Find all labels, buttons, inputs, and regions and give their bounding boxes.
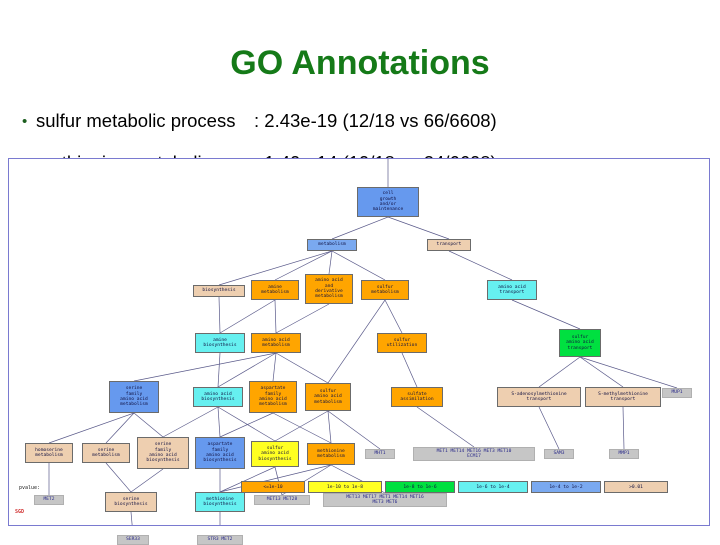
- slide-root: GO Annotations •sulfur metabolic process…: [0, 0, 720, 540]
- go-node-cell[interactable]: cell growth and/or maintenance: [357, 187, 419, 217]
- bullet-label-0: sulfur metabolic process: [36, 110, 235, 132]
- go-edge-aamet-to-sulfaamet: [276, 353, 328, 383]
- go-edge-samtransp-to-g_sam3: [539, 407, 559, 449]
- go-edge-serfammet-to-serfambio: [134, 413, 163, 437]
- go-node-sulfaamet[interactable]: sulfur amino acid metabolism: [305, 383, 351, 411]
- go-node-aspfammet[interactable]: aspartate family amino acid metabolism: [249, 381, 297, 413]
- go-edge-sulfaatr-to-smmtransp: [580, 357, 623, 387]
- go-edge-sulfaatr-to-g_mup1: [580, 357, 677, 388]
- go-node-aadermet[interactable]: amino acid and derivative metabolism: [305, 274, 353, 304]
- go-node-g_ser33[interactable]: SER33: [117, 535, 149, 545]
- pvalue-legend-chip-5: >0.01: [604, 481, 668, 493]
- bullet-value-0: : 2.43e-19 (12/18 vs 66/6608): [254, 110, 497, 132]
- go-edge-aabio-to-aspfambio: [218, 407, 220, 437]
- pvalue-legend-chip-2: 1e-8 to 1e-6: [385, 481, 455, 493]
- go-edge-serfammet-to-homoser: [49, 413, 134, 443]
- go-edge-sulfaatr-to-samtransp: [539, 357, 580, 387]
- go-node-sulfassim[interactable]: sulfate assimilation: [391, 387, 443, 407]
- go-node-sermet[interactable]: serine metabolism: [82, 443, 130, 463]
- go-edge-aadermet-to-aamet: [276, 304, 329, 333]
- go-edge-sulfassim-to-g_met1: [417, 407, 474, 447]
- go-edge-sulfaamet-to-sulfaabio: [275, 411, 328, 441]
- go-node-transp[interactable]: transport: [427, 239, 471, 251]
- go-edge-aspfammet-to-methmet: [273, 413, 331, 443]
- go-node-aspfambio[interactable]: aspartate family amino acid biosynthesis: [195, 437, 245, 469]
- go-node-serfammet[interactable]: serine family amino acid metabolism: [109, 381, 159, 413]
- go-node-g_str3[interactable]: STR3 MET2: [197, 535, 243, 545]
- go-node-sulfaabio[interactable]: sulfur amino acid biosynthesis: [251, 441, 299, 467]
- pvalue-legend: pvalue: <=1e-101e-10 to 1e-81e-8 to 1e-6…: [9, 481, 709, 503]
- go-edge-aminebio-to-aabio: [218, 353, 220, 387]
- go-edge-aamet-to-serfammet: [134, 353, 276, 381]
- go-edge-cell-to-metab: [332, 217, 388, 239]
- go-edge-sulfmet-to-sulfutil: [385, 300, 402, 333]
- go-node-sulfmet[interactable]: sulfur metabolism: [361, 280, 409, 300]
- go-edge-aminemet-to-aamet: [275, 300, 276, 333]
- go-node-metab[interactable]: metabolism: [307, 239, 357, 251]
- go-node-samtransp[interactable]: S-adenosylmethionine transport: [497, 387, 581, 407]
- go-node-aminemet[interactable]: amine metabolism: [251, 280, 299, 300]
- go-node-serfambio[interactable]: serine family amino acid biosynthesis: [137, 437, 189, 469]
- go-node-aatransp[interactable]: amino acid transport: [487, 280, 537, 300]
- go-edge-sulfutil-to-sulfassim: [402, 353, 417, 387]
- go-edge-aamet-to-aspfammet: [273, 353, 276, 381]
- go-node-sulfaatr[interactable]: sulfur amino acid transport: [559, 329, 601, 357]
- go-edge-serbio-to-g_ser33: [131, 512, 133, 525]
- go-node-g_mht1[interactable]: MHT1: [365, 449, 395, 459]
- page-title: GO Annotations: [0, 44, 720, 83]
- pvalue-legend-chip-1: 1e-10 to 1e-8: [308, 481, 382, 493]
- pvalue-legend-chip-4: 1e-4 to 1e-2: [531, 481, 601, 493]
- go-node-g_met1[interactable]: MET1 MET14 MET16 MET3 MET10 ECM17: [413, 447, 535, 461]
- go-edge-biosyn-to-aminebio: [219, 297, 220, 333]
- go-node-aamet[interactable]: amino acid metabolism: [251, 333, 301, 353]
- go-node-g_mmp1[interactable]: MMP1: [609, 449, 639, 459]
- go-node-sulfutil[interactable]: sulfur utilization: [377, 333, 427, 353]
- bullet-marker-icon: •: [22, 113, 36, 130]
- go-node-biosyn[interactable]: biosynthesis: [193, 285, 245, 297]
- bullet-item-0: •sulfur metabolic process : 2.43e-19 (12…: [22, 110, 712, 136]
- pvalue-legend-label: pvalue:: [19, 485, 40, 491]
- go-edge-sulfaamet-to-methmet: [328, 411, 331, 443]
- go-edge-aatransp-to-sulfaatr: [512, 300, 580, 329]
- go-node-smmtransp[interactable]: S-methylmethionine transport: [585, 387, 661, 407]
- go-edge-transp-to-aatransp: [449, 251, 512, 280]
- go-node-g_mup1[interactable]: MUP1: [662, 388, 692, 398]
- go-edge-smmtransp-to-g_mmp1: [623, 407, 624, 449]
- go-node-methmet[interactable]: methionine metabolism: [307, 443, 355, 465]
- pvalue-legend-chip-0: <=1e-10: [241, 481, 305, 493]
- go-graph-canvas: cell growth and/or maintenancemetabolism…: [9, 159, 709, 525]
- go-graph-panel: cell growth and/or maintenancemetabolism…: [8, 158, 710, 526]
- pvalue-legend-chip-3: 1e-6 to 1e-4: [458, 481, 528, 493]
- go-node-g_sam3[interactable]: SAM3: [544, 449, 574, 459]
- go-edge-cell-to-transp: [388, 217, 449, 239]
- go-edge-metab-to-aadermet: [329, 251, 332, 274]
- go-edge-aspfammet-to-aspfambio: [220, 413, 273, 437]
- go-node-aabio[interactable]: amino acid biosynthesis: [193, 387, 243, 407]
- go-edge-serfammet-to-sermet: [106, 413, 134, 443]
- sgd-watermark: SGD: [15, 509, 24, 515]
- go-edge-aabio-to-serfambio: [163, 407, 218, 437]
- go-node-homoser[interactable]: homoserine metabolism: [25, 443, 73, 463]
- go-node-aminebio[interactable]: amine biosynthesis: [195, 333, 245, 353]
- go-edge-aminemet-to-aminebio: [220, 300, 275, 333]
